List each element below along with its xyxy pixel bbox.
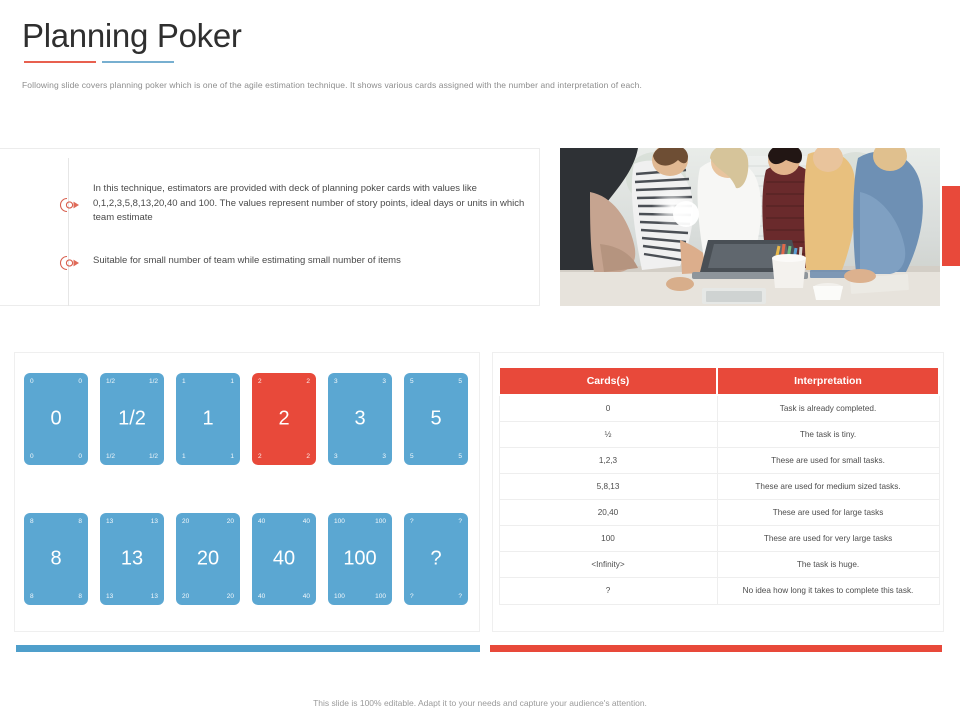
circle-arrow-bullet-icon bbox=[58, 254, 80, 272]
cell-interpretation: These are used for small tasks. bbox=[717, 448, 939, 474]
card-corner-bottom-left: 8 bbox=[30, 593, 34, 600]
table-header-interpretation: Interpretation bbox=[717, 367, 939, 395]
card-corner-bottom-left: ? bbox=[410, 593, 414, 600]
table-row: <Infinity> The task is huge. bbox=[499, 552, 939, 578]
card-corner-top-left: 40 bbox=[258, 518, 265, 525]
card-corner-bottom-right: 20 bbox=[227, 593, 234, 600]
card-corner-bottom-left: 13 bbox=[106, 593, 113, 600]
info-vertical-divider bbox=[68, 158, 69, 306]
table-row: 5,8,13 These are used for medium sized t… bbox=[499, 474, 939, 500]
poker-card-row-1: 0 0 0 0 0 1/2 1/2 1/2 1/2 1/2 1 1 1 1 1 … bbox=[24, 373, 468, 465]
table-header-row: Cards(s) Interpretation bbox=[499, 367, 939, 395]
footer-note: This slide is 100% editable. Adapt it to… bbox=[0, 698, 960, 708]
card-corner-bottom-right: 13 bbox=[151, 593, 158, 600]
card-corner-bottom-left: 40 bbox=[258, 593, 265, 600]
team-photo bbox=[560, 148, 940, 306]
cell-cards: 5,8,13 bbox=[499, 474, 717, 500]
bottom-bar-red bbox=[490, 645, 942, 652]
poker-card-selected[interactable]: 2 2 2 2 2 bbox=[252, 373, 316, 465]
card-corner-bottom-left: 1 bbox=[182, 453, 186, 460]
table-row: 100 These are used for very large tasks bbox=[499, 526, 939, 552]
bullet-item-1: In this technique, estimators are provid… bbox=[58, 182, 528, 226]
card-value: 20 bbox=[176, 548, 240, 571]
circle-arrow-bullet-icon bbox=[58, 196, 80, 214]
card-corner-bottom-left: 20 bbox=[182, 593, 189, 600]
card-corner-top-right: 0 bbox=[78, 378, 82, 385]
title-underline-red bbox=[24, 61, 96, 63]
cell-interpretation: These are used for medium sized tasks. bbox=[717, 474, 939, 500]
poker-card[interactable]: 1 1 1 1 1 bbox=[176, 373, 240, 465]
poker-card[interactable]: ? ? ? ? ? bbox=[404, 513, 468, 605]
card-corner-top-right: 3 bbox=[382, 378, 386, 385]
card-corner-top-left: 1 bbox=[182, 378, 186, 385]
cell-cards: <Infinity> bbox=[499, 552, 717, 578]
cell-cards: 1,2,3 bbox=[499, 448, 717, 474]
table-row: 20,40 These are used for large tasks bbox=[499, 500, 939, 526]
card-corner-top-left: 8 bbox=[30, 518, 34, 525]
card-corner-bottom-right: 3 bbox=[382, 453, 386, 460]
card-corner-bottom-right: ? bbox=[458, 593, 462, 600]
card-corner-top-left: ? bbox=[410, 518, 414, 525]
card-value: 1/2 bbox=[100, 408, 164, 431]
card-value: 5 bbox=[404, 408, 468, 431]
cell-cards: 0 bbox=[499, 395, 717, 422]
card-corner-top-left: 5 bbox=[410, 378, 414, 385]
card-corner-top-right: 20 bbox=[227, 518, 234, 525]
card-value: 40 bbox=[252, 548, 316, 571]
card-corner-bottom-left: 3 bbox=[334, 453, 338, 460]
table-row: 1,2,3 These are used for small tasks. bbox=[499, 448, 939, 474]
card-value: 1 bbox=[176, 408, 240, 431]
card-corner-top-right: 2 bbox=[306, 378, 310, 385]
interpretation-table: Cards(s) Interpretation 0 Task is alread… bbox=[498, 366, 940, 605]
cell-cards: ? bbox=[499, 578, 717, 604]
poker-card[interactable]: 5 5 5 5 5 bbox=[404, 373, 468, 465]
card-corner-top-left: 13 bbox=[106, 518, 113, 525]
card-corner-top-right: 8 bbox=[78, 518, 82, 525]
card-corner-top-right: 1 bbox=[230, 378, 234, 385]
card-corner-top-right: 1/2 bbox=[149, 378, 158, 385]
card-corner-bottom-left: 0 bbox=[30, 453, 34, 460]
poker-card[interactable]: 20 20 20 20 20 bbox=[176, 513, 240, 605]
card-corner-bottom-left: 1/2 bbox=[106, 453, 115, 460]
card-corner-bottom-right: 8 bbox=[78, 593, 82, 600]
card-corner-top-right: 100 bbox=[375, 518, 386, 525]
bullet-text-1: In this technique, estimators are provid… bbox=[93, 182, 528, 226]
card-corner-bottom-right: 5 bbox=[458, 453, 462, 460]
card-corner-top-left: 2 bbox=[258, 378, 262, 385]
card-corner-bottom-right: 0 bbox=[78, 453, 82, 460]
cell-cards: 100 bbox=[499, 526, 717, 552]
card-corner-top-left: 1/2 bbox=[106, 378, 115, 385]
card-corner-bottom-right: 1 bbox=[230, 453, 234, 460]
card-corner-bottom-right: 2 bbox=[306, 453, 310, 460]
card-corner-bottom-right: 100 bbox=[375, 593, 386, 600]
card-value: 100 bbox=[328, 548, 392, 571]
info-panel bbox=[0, 148, 540, 306]
cell-interpretation: These are used for very large tasks bbox=[717, 526, 939, 552]
poker-card[interactable]: 1/2 1/2 1/2 1/2 1/2 bbox=[100, 373, 164, 465]
title-underline bbox=[24, 61, 184, 64]
poker-card[interactable]: 3 3 3 3 3 bbox=[328, 373, 392, 465]
card-corner-top-left: 0 bbox=[30, 378, 34, 385]
card-corner-top-right: 40 bbox=[303, 518, 310, 525]
title-underline-blue bbox=[102, 61, 174, 63]
card-corner-top-left: 3 bbox=[334, 378, 338, 385]
card-corner-top-left: 100 bbox=[334, 518, 345, 525]
table-row: ½ The task is tiny. bbox=[499, 422, 939, 448]
poker-card[interactable]: 8 8 8 8 8 bbox=[24, 513, 88, 605]
poker-card[interactable]: 0 0 0 0 0 bbox=[24, 373, 88, 465]
cell-cards: ½ bbox=[499, 422, 717, 448]
poker-card[interactable]: 13 13 13 13 13 bbox=[100, 513, 164, 605]
bottom-bar-blue bbox=[16, 645, 480, 652]
card-value: ? bbox=[404, 548, 468, 571]
card-value: 2 bbox=[252, 408, 316, 431]
cell-interpretation: The task is tiny. bbox=[717, 422, 939, 448]
poker-card[interactable]: 100 100 100 100 100 bbox=[328, 513, 392, 605]
table-row: ? No idea how long it takes to complete … bbox=[499, 578, 939, 604]
card-value: 0 bbox=[24, 408, 88, 431]
table-header-cards: Cards(s) bbox=[499, 367, 717, 395]
card-corner-bottom-right: 1/2 bbox=[149, 453, 158, 460]
card-corner-bottom-left: 100 bbox=[334, 593, 345, 600]
poker-card[interactable]: 40 40 40 40 40 bbox=[252, 513, 316, 605]
card-value: 8 bbox=[24, 548, 88, 571]
cell-cards: 20,40 bbox=[499, 500, 717, 526]
cell-interpretation: No idea how long it takes to complete th… bbox=[717, 578, 939, 604]
card-corner-top-right: 5 bbox=[458, 378, 462, 385]
card-corner-top-right: ? bbox=[458, 518, 462, 525]
page-subtitle: Following slide covers planning poker wh… bbox=[22, 80, 938, 90]
cell-interpretation: The task is huge. bbox=[717, 552, 939, 578]
card-value: 13 bbox=[100, 548, 164, 571]
card-corner-bottom-left: 2 bbox=[258, 453, 262, 460]
red-accent-block bbox=[942, 186, 960, 266]
card-corner-top-right: 13 bbox=[151, 518, 158, 525]
poker-card-row-2: 8 8 8 8 8 13 13 13 13 13 20 20 20 20 20 … bbox=[24, 513, 468, 605]
bullet-text-2: Suitable for small number of team while … bbox=[93, 254, 401, 269]
card-corner-bottom-left: 5 bbox=[410, 453, 414, 460]
card-corner-top-left: 20 bbox=[182, 518, 189, 525]
card-value: 3 bbox=[328, 408, 392, 431]
table-row: 0 Task is already completed. bbox=[499, 395, 939, 422]
cell-interpretation: Task is already completed. bbox=[717, 395, 939, 422]
page-title: Planning Poker bbox=[22, 18, 242, 54]
bullet-item-2: Suitable for small number of team while … bbox=[58, 254, 528, 272]
cell-interpretation: These are used for large tasks bbox=[717, 500, 939, 526]
card-corner-bottom-right: 40 bbox=[303, 593, 310, 600]
